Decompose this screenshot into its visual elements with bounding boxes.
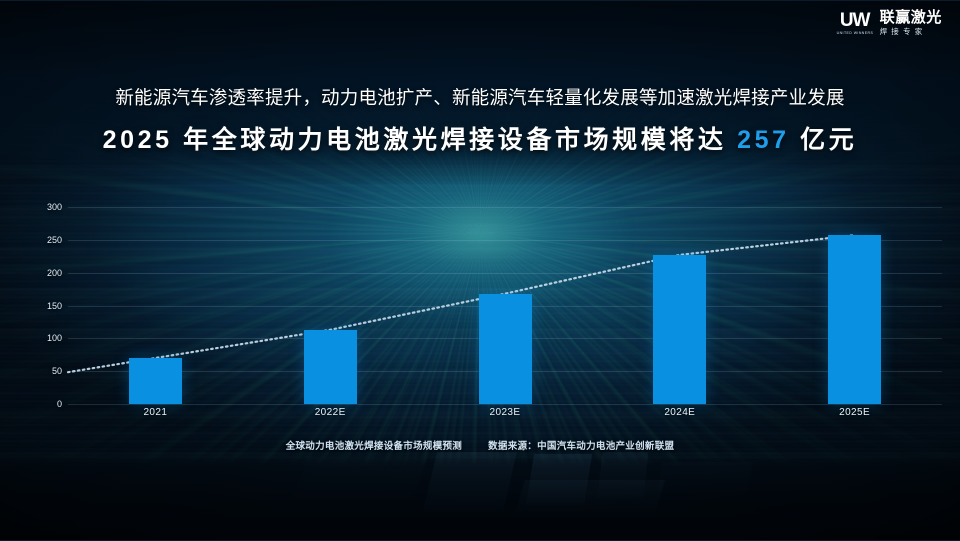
- chart-gridline: [68, 273, 942, 274]
- chart-x-tick-label: 2021: [110, 407, 200, 418]
- chart-bar[interactable]: [304, 330, 357, 404]
- chart-bar[interactable]: [479, 294, 532, 404]
- headline-main-suffix: 亿元: [790, 126, 858, 154]
- chart-y-axis: 050100150200250300: [0, 207, 62, 404]
- headline-main-prefix: 2025 年全球动力电池激光焊接设备市场规模将达: [103, 126, 738, 154]
- headline-highlight-value: 257: [737, 126, 790, 154]
- chart-y-tick-label: 150: [16, 301, 62, 311]
- chart-caption: 全球动力电池激光焊接设备市场规模预测 数据来源：中国汽车动力电池产业创新联盟: [0, 438, 960, 452]
- chart-gridline: [68, 207, 942, 208]
- chart-bar[interactable]: [828, 235, 881, 404]
- chart-x-tick-label: 2024E: [635, 407, 725, 418]
- chart-bar[interactable]: [129, 358, 182, 404]
- chart-y-tick-label: 50: [16, 366, 62, 376]
- chart-x-tick-label: 2025E: [810, 407, 900, 418]
- logo-chinese-block: 联赢激光 焊接专家: [880, 10, 942, 36]
- chart-x-tick-label: 2022E: [285, 407, 375, 418]
- headline-subtitle: 新能源汽车渗透率提升，动力电池扩产、新能源汽车轻量化发展等加速激光焊接产业发展: [0, 84, 960, 110]
- headline-main: 2025 年全球动力电池激光焊接设备市场规模将达 257 亿元: [0, 120, 960, 156]
- chart-y-tick-label: 300: [16, 202, 62, 212]
- logo-uw-text: UW: [840, 11, 870, 30]
- brand-logo: UW UNITED WINNERS 联赢激光 焊接专家: [837, 10, 942, 36]
- chart-caption-source: 数据来源：中国汽车动力电池产业创新联盟: [488, 438, 674, 452]
- logo-company-latin: UNITED WINNERS: [836, 32, 873, 35]
- logo-monogram: UW UNITED WINNERS: [837, 11, 873, 35]
- chart-y-tick-label: 0: [16, 399, 62, 409]
- chart-caption-title: 全球动力电池激光焊接设备市场规模预测: [286, 438, 462, 452]
- chart-y-tick-label: 250: [16, 235, 62, 245]
- logo-tagline: 焊接专家: [880, 28, 942, 36]
- chart-bar[interactable]: [653, 255, 706, 404]
- logo-company-name: 联赢激光: [880, 10, 942, 25]
- chart-gridline: [68, 404, 942, 405]
- market-size-bar-chart: 050100150200250300 20212022E2023E2024E20…: [0, 180, 960, 430]
- slide-root: UW UNITED WINNERS 联赢激光 焊接专家 新能源汽车渗透率提升，动…: [0, 0, 960, 541]
- chart-y-tick-label: 200: [16, 268, 62, 278]
- frame-top-border: [0, 0, 960, 1]
- chart-gridline: [68, 240, 942, 241]
- chart-plot-area: 20212022E2023E2024E2025E: [68, 207, 942, 404]
- chart-x-tick-label: 2023E: [460, 407, 550, 418]
- chart-y-tick-label: 100: [16, 333, 62, 343]
